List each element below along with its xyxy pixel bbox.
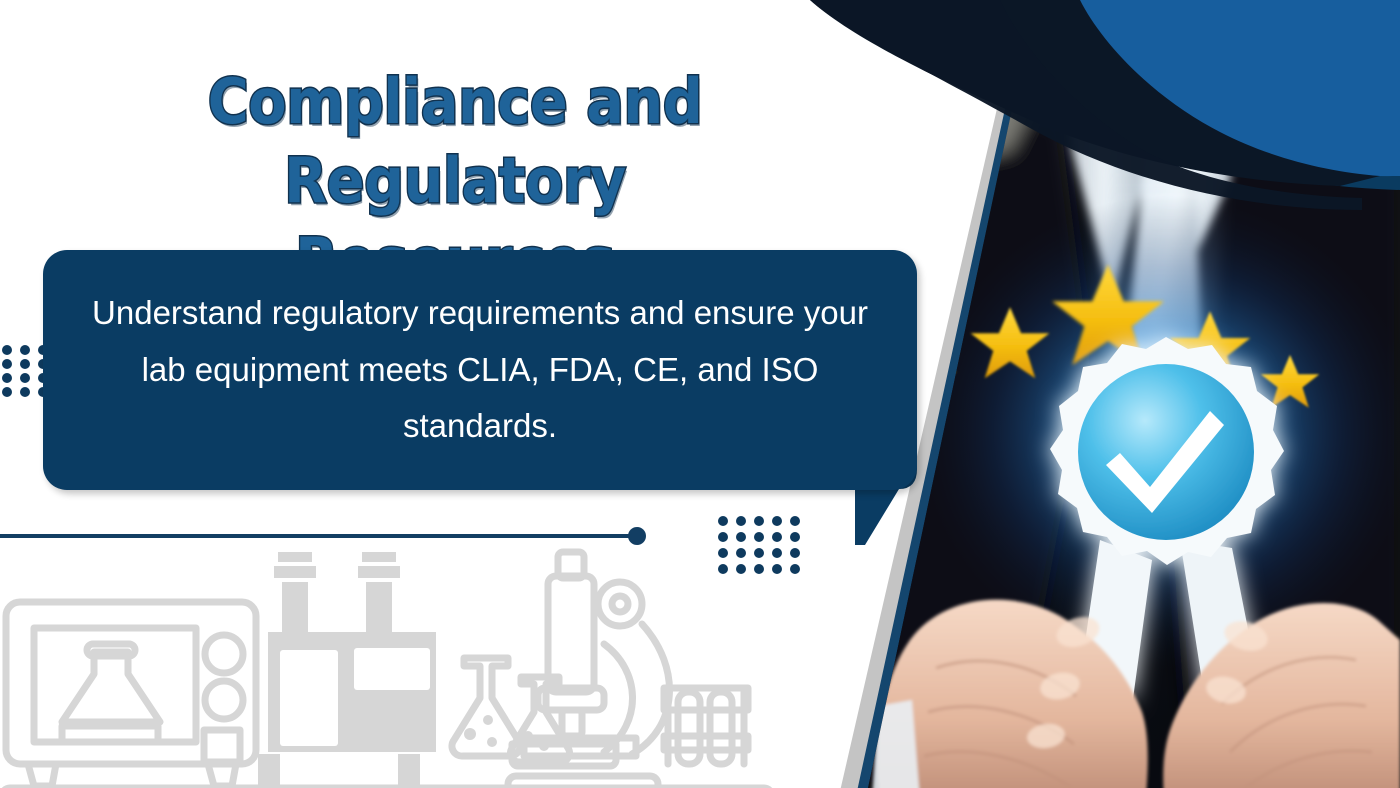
grid-dot <box>2 359 12 369</box>
grid-dot <box>772 516 782 526</box>
grid-dot <box>754 532 764 542</box>
lab-equipment-watermark <box>0 540 792 788</box>
grid-dot <box>736 532 746 542</box>
grid-dot <box>754 548 764 558</box>
grid-dot <box>718 532 728 542</box>
grid-dot <box>2 345 12 355</box>
grid-dot <box>20 345 30 355</box>
description-callout: Understand regulatory requirements and e… <box>43 250 917 490</box>
microscope-icon <box>508 552 669 788</box>
grid-dot <box>20 373 30 383</box>
lab-oven-icon <box>6 602 256 786</box>
grid-dot <box>754 516 764 526</box>
grid-dot <box>20 359 30 369</box>
rosette <box>1050 337 1284 565</box>
grid-dot <box>718 548 728 558</box>
grid-dot <box>790 564 800 574</box>
grid-dot <box>754 564 764 574</box>
grid-dot <box>790 548 800 558</box>
dot-grid-row <box>714 545 804 561</box>
grid-dot <box>736 564 746 574</box>
grid-dot <box>736 516 746 526</box>
accent-rule-end-dot <box>628 527 646 545</box>
description-text: Understand regulatory requirements and e… <box>70 285 890 455</box>
test-tube-rack-icon <box>664 688 748 764</box>
dot-grid-row <box>714 561 804 577</box>
dot-grid-right <box>714 513 804 577</box>
grid-dot <box>20 387 30 397</box>
dot-grid-row <box>714 529 804 545</box>
grid-dot <box>2 373 12 383</box>
grid-dot <box>772 564 782 574</box>
accent-rule <box>0 534 634 538</box>
slide-canvas: Understand regulatory requirements and e… <box>0 0 1400 788</box>
grid-dot <box>2 387 12 397</box>
grid-dot <box>772 548 782 558</box>
grid-dot <box>718 516 728 526</box>
grid-dot <box>718 564 728 574</box>
grid-dot <box>790 516 800 526</box>
dot-grid-row <box>714 513 804 529</box>
rosette-disc <box>1078 364 1254 540</box>
grid-dot <box>790 532 800 542</box>
grid-dot <box>772 532 782 542</box>
grid-dot <box>736 548 746 558</box>
